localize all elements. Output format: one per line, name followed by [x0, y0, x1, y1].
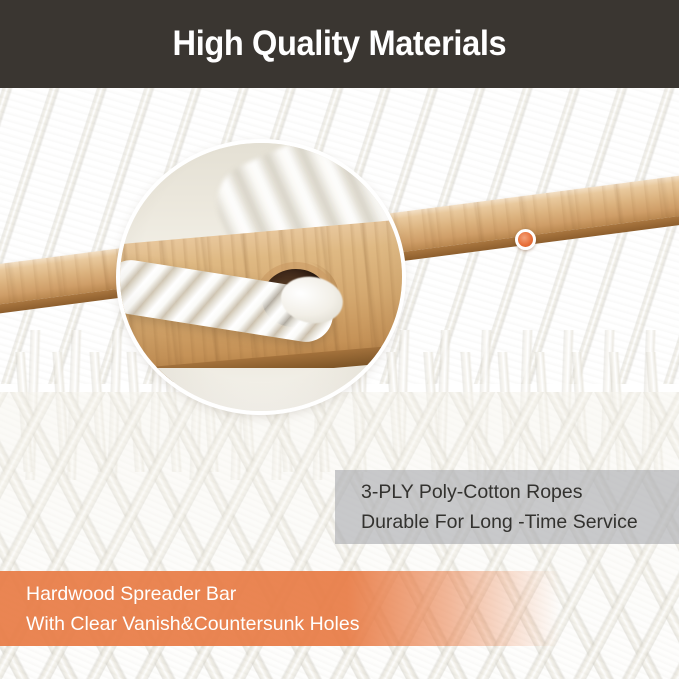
callout-ropes-line-2: Durable For Long -Time Service: [361, 507, 679, 537]
callout-ropes: 3-PLY Poly-Cotton Ropes Durable For Long…: [335, 470, 679, 544]
callout-spreader-bar: Hardwood Spreader Bar With Clear Vanish&…: [0, 571, 560, 646]
magnifier-source-marker: [515, 229, 536, 250]
product-feature-image: High Quality Materials 3-PLY Poly-Cotton…: [0, 0, 679, 679]
callout-spreader-bar-line-1: Hardwood Spreader Bar: [26, 579, 560, 609]
header-bar: High Quality Materials: [0, 0, 679, 88]
callout-spreader-bar-line-2: With Clear Vanish&Countersunk Holes: [26, 609, 560, 639]
magnifier-vignette: [120, 143, 402, 411]
callout-ropes-line-1: 3-PLY Poly-Cotton Ropes: [361, 477, 679, 507]
page-title: High Quality Materials: [173, 24, 507, 64]
magnifier-circle: [120, 143, 402, 411]
